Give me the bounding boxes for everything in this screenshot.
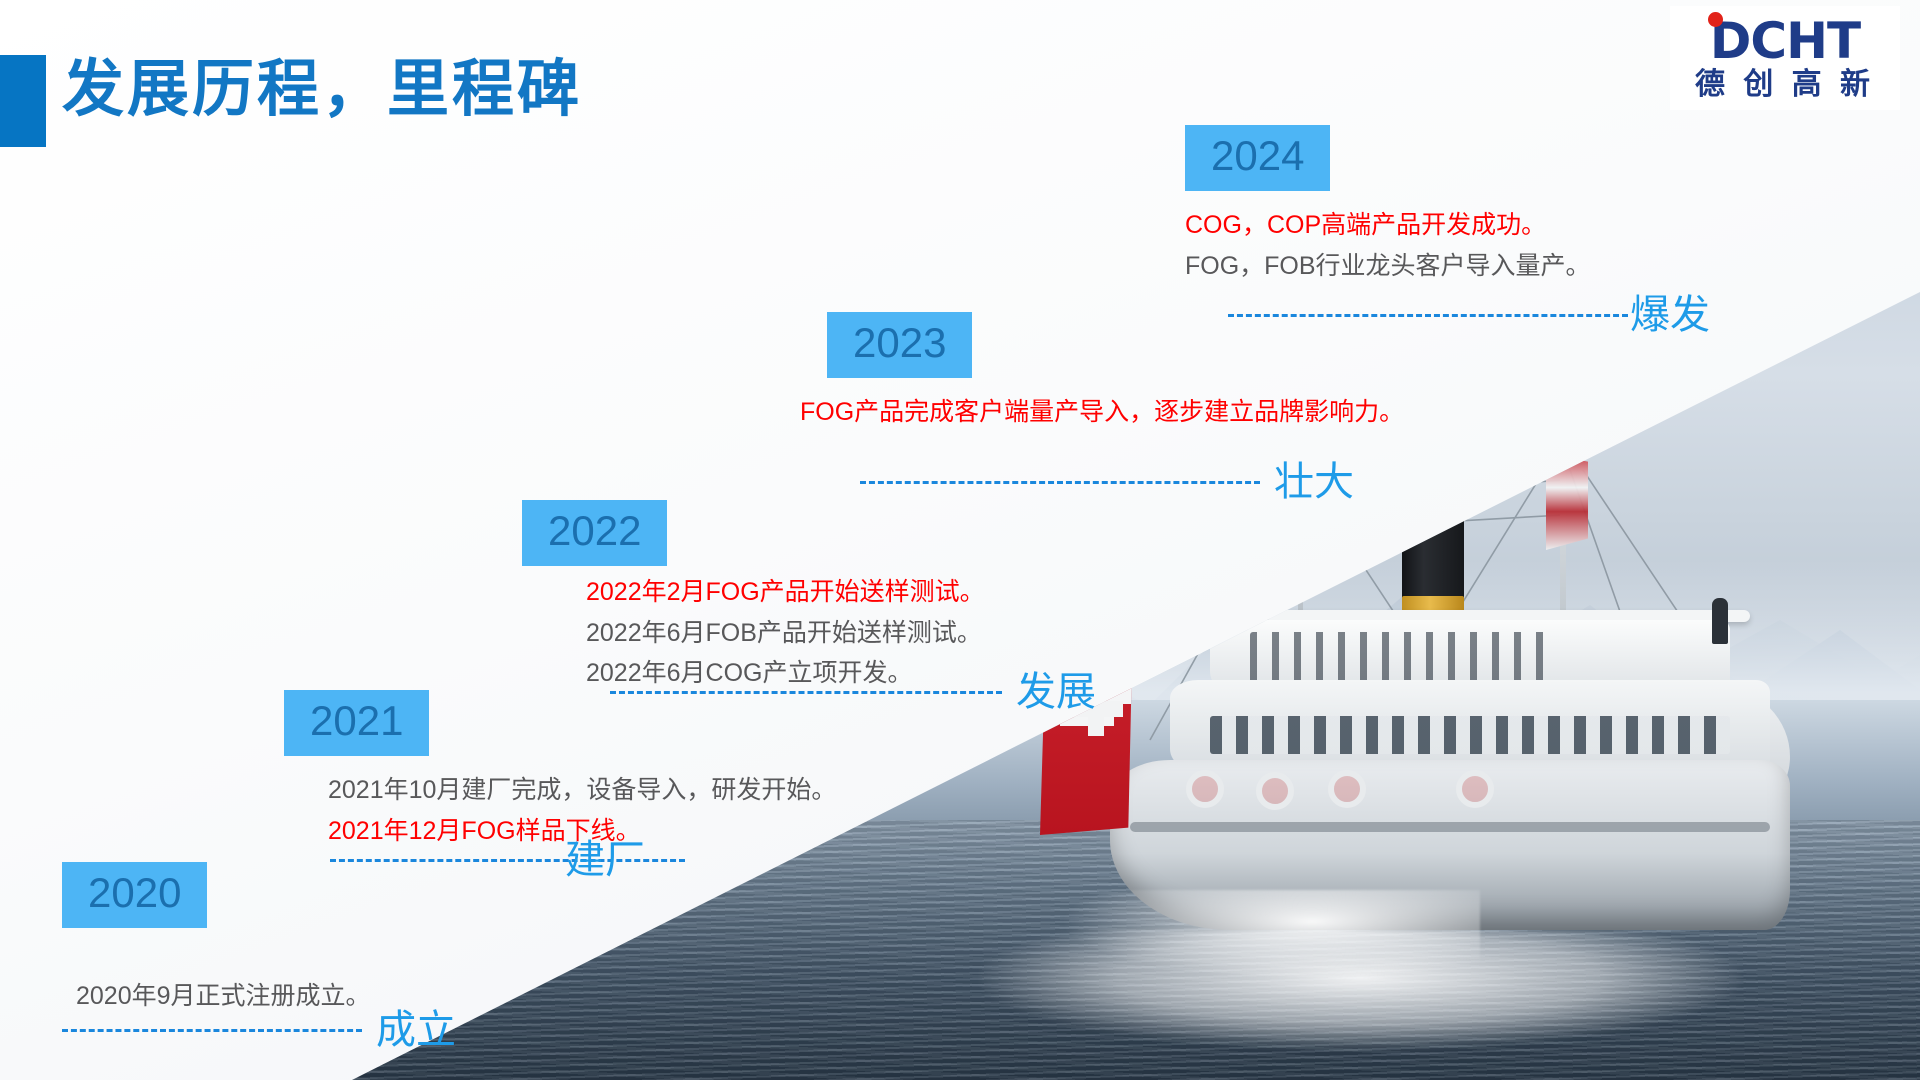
boat-lifering xyxy=(1456,770,1494,808)
phase-label-2022: 发展 xyxy=(1016,672,1096,712)
milestone-2022-line-1: 2022年2月FOG产品开始送样测试。 xyxy=(586,572,985,613)
milestone-2021-line-1: 2021年10月建厂完成，设备导入，研发开始。 xyxy=(328,770,836,811)
boat-window-row xyxy=(1210,716,1730,754)
milestone-2020-rule: 成立 xyxy=(62,1010,456,1050)
year-badge-2024[interactable]: 2024 xyxy=(1185,125,1330,191)
milestone-2024-line-2: FOG，FOB行业龙头客户导入量产。 xyxy=(1185,246,1591,287)
slide-root: 发展历程，里程碑 DCHT 德 创 高 新 2024 COG，COP高端产品开发… xyxy=(0,0,1920,1080)
milestone-2024: 2024 COG，COP高端产品开发成功。 FOG，FOB行业龙头客户导入量产。 xyxy=(1185,125,1591,286)
photo-steamboat xyxy=(1060,470,1820,980)
boat-hull-stripe xyxy=(1130,822,1770,832)
year-badge-2022[interactable]: 2022 xyxy=(522,500,667,566)
boat-passengers xyxy=(1250,632,1550,684)
milestone-2023: 2023 FOG产品完成客户端量产导入，逐步建立品牌影响力。 xyxy=(827,312,1404,433)
phase-label-2020: 成立 xyxy=(376,1010,456,1050)
title-accent-bar xyxy=(0,55,46,147)
boat-masthead-flag xyxy=(1546,454,1588,550)
boat-lifering xyxy=(1328,770,1366,808)
milestone-2022-line-2: 2022年6月FOB产品开始送样测试。 xyxy=(586,613,985,654)
year-badge-2023[interactable]: 2023 xyxy=(827,312,972,378)
milestone-2020: 2020 2020年9月正式注册成立。 xyxy=(62,862,371,1017)
phase-label-2023: 壮大 xyxy=(1274,462,1354,502)
phase-label-2021: 建厂 xyxy=(565,840,645,880)
company-logo: DCHT 德 创 高 新 xyxy=(1670,6,1900,110)
milestone-2024-lines: COG，COP高端产品开发成功。 FOG，FOB行业龙头客户导入量产。 xyxy=(1185,205,1591,286)
logo-wordmark: DCHT xyxy=(1710,16,1860,66)
dashed-line-2020 xyxy=(62,1029,362,1032)
milestone-2023-lines: FOG产品完成客户端量产导入，逐步建立品牌影响力。 xyxy=(800,392,1404,433)
milestone-2024-line-1: COG，COP高端产品开发成功。 xyxy=(1185,205,1591,246)
year-badge-2020[interactable]: 2020 xyxy=(62,862,207,928)
dashed-line-2023 xyxy=(860,481,1260,484)
boat-crew-figure xyxy=(1712,598,1728,644)
milestone-2022: 2022 2022年2月FOG产品开始送样测试。 2022年6月FOB产品开始送… xyxy=(522,500,985,694)
boat-lifering xyxy=(1256,772,1294,810)
logo-wordmark-text: DCHT xyxy=(1710,12,1860,70)
milestone-2023-rule: 壮大 xyxy=(860,462,1354,502)
milestone-2021-rule: 建厂 xyxy=(330,840,645,880)
boat-lifering xyxy=(1186,770,1224,808)
boat-bow-wave xyxy=(1060,890,1480,980)
year-badge-2021[interactable]: 2021 xyxy=(284,690,429,756)
logo-red-dot-icon xyxy=(1708,12,1723,27)
phase-label-2024: 爆发 xyxy=(1630,295,1710,335)
page-title: 发展历程，里程碑 xyxy=(62,38,582,128)
milestone-2023-line-1: FOG产品完成客户端量产导入，逐步建立品牌影响力。 xyxy=(800,392,1404,433)
logo-chinese-name: 德 创 高 新 xyxy=(1695,70,1875,100)
milestone-2021: 2021 2021年10月建厂完成，设备导入，研发开始。 2021年12月FOG… xyxy=(284,690,836,851)
